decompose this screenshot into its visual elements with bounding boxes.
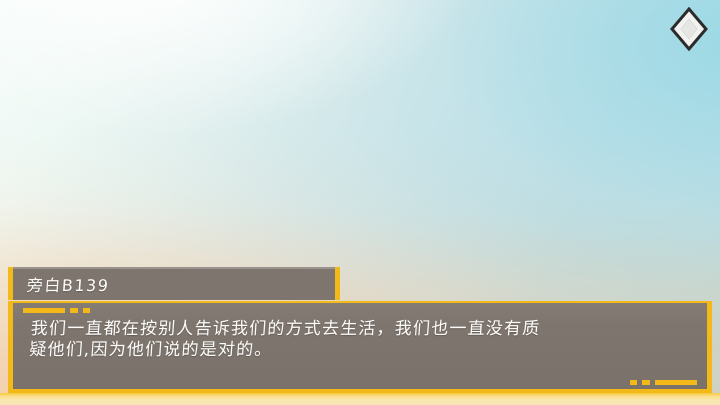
decoration-top-left: [23, 308, 90, 313]
deco-bar-icon: [655, 380, 697, 385]
dialogue-box[interactable]: 我们一直都在按别人告诉我们的方式去生活，我们也一直没有质 疑他们,因为他们说的是…: [8, 301, 712, 393]
deco-dash-icon: [70, 308, 78, 313]
deco-dash-icon: [83, 308, 90, 313]
deco-dash-icon: [630, 380, 637, 385]
deco-bar-icon: [23, 308, 65, 313]
speaker-name-box: 旁白B139: [8, 267, 340, 300]
menu-button[interactable]: [670, 7, 708, 51]
decoration-bottom-right: [630, 380, 697, 385]
deco-dash-icon: [642, 380, 650, 385]
diamond-icon: [670, 7, 708, 51]
speaker-name: 旁白B139: [26, 272, 110, 296]
game-screen: 旁白B139 我们一直都在按别人告诉我们的方式去生活，我们也一直没有质 疑他们,…: [0, 0, 720, 405]
dialogue-text: 我们一直都在按别人告诉我们的方式去生活，我们也一直没有质 疑他们,因为他们说的是…: [29, 319, 695, 361]
dialogue-line-1: 我们一直都在按别人告诉我们的方式去生活，我们也一直没有质: [30, 319, 541, 339]
bottom-accent-strip: [0, 393, 720, 405]
dialogue-line-2: 疑他们,因为他们说的是对的。: [29, 340, 693, 361]
